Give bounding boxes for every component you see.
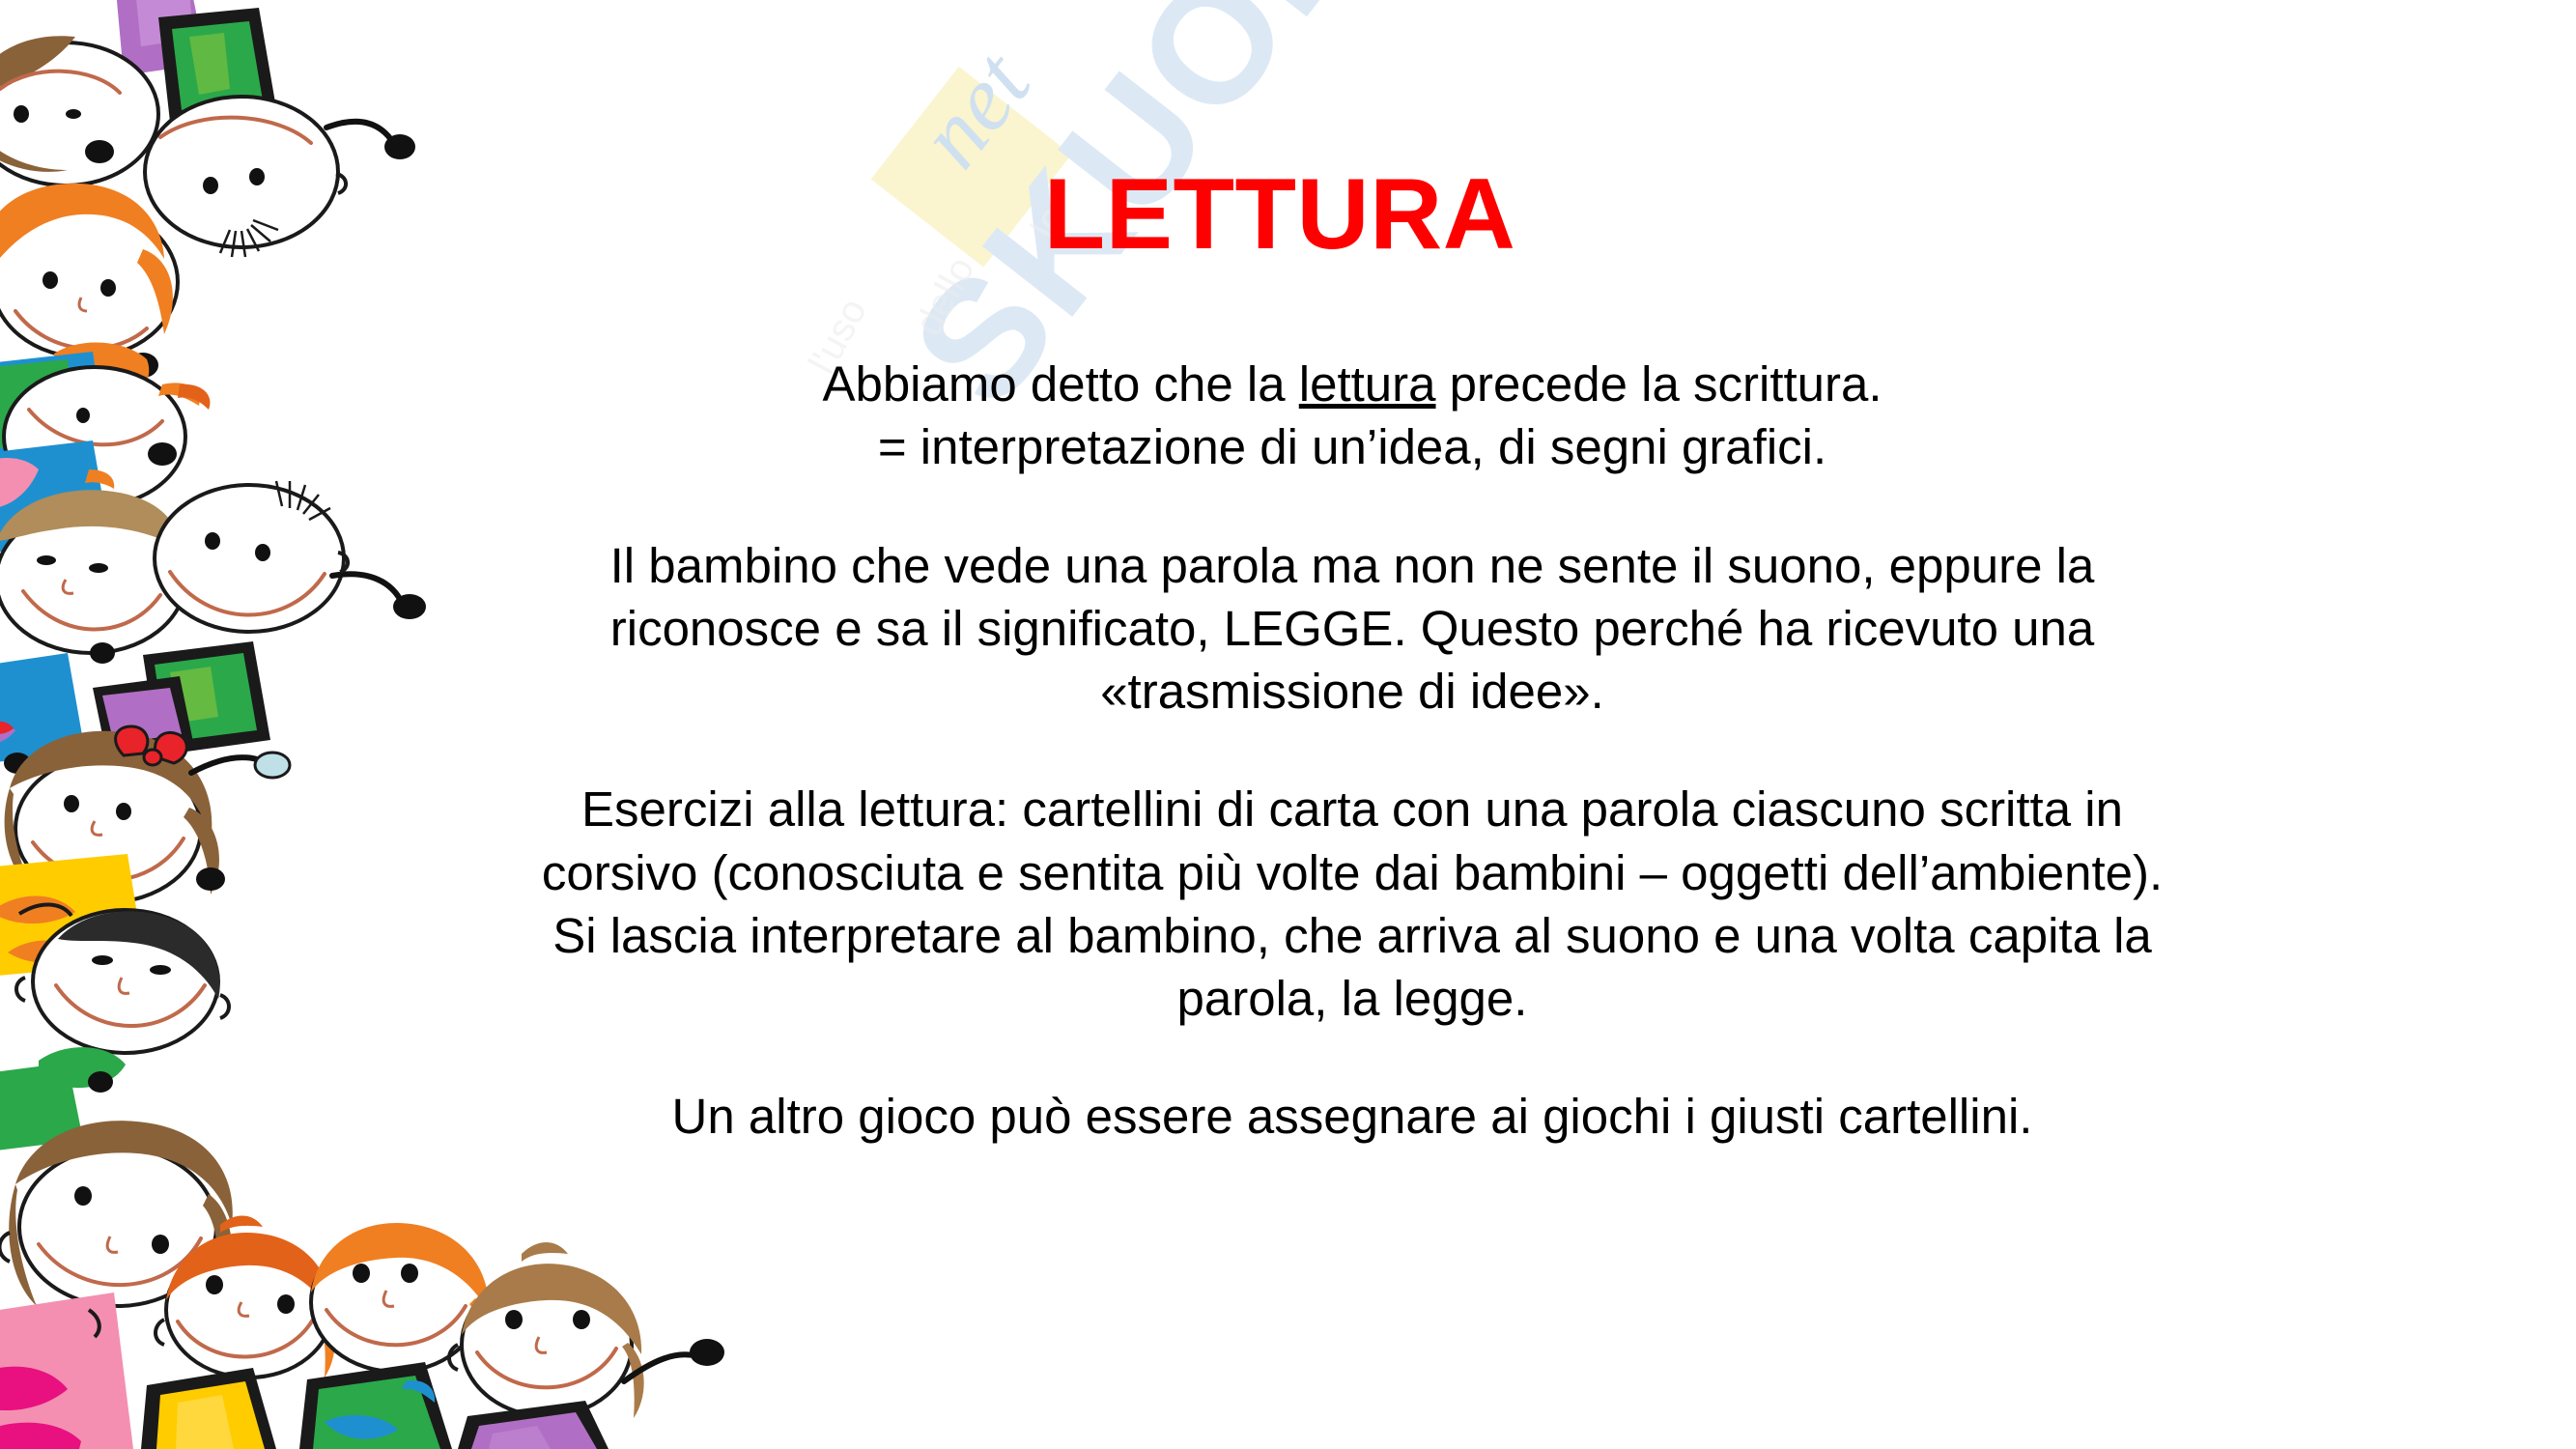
paragraph-1-line-2: = interpretazione di un’idea, di segni g… [435, 415, 2270, 478]
clipart-child-face-2 [145, 97, 415, 257]
presentation-slide: SKUOLA net l'uso dello le .ol { fill:non… [0, 0, 2576, 1449]
clipart-child-pink-shirt-bottom [0, 1293, 133, 1449]
clipart-hair-whiskers-2 [276, 481, 330, 520]
clipart-child-top-purple [116, 0, 207, 75]
clipart-child-blue-shirt-mid [0, 653, 85, 774]
slide-title: LETTURA [435, 162, 2125, 268]
paragraph-3-line-1: Esercizi alla lettura: cartellini di car… [435, 778, 2270, 840]
clipart-lollipop [255, 753, 290, 778]
paragraph-3-line-2: corsivo (conosciuta e sentita più volte … [435, 841, 2270, 904]
clipart-child-face-black-hair [16, 910, 229, 1053]
paragraph-gap-2 [435, 723, 2270, 778]
clipart-child-face-3 [0, 184, 178, 378]
paragraph-2-line-2: riconosce e sa il significato, LEGGE. Qu… [435, 597, 2270, 660]
clipart-child-face-6 [155, 481, 426, 632]
paragraph-gap-1 [435, 479, 2270, 534]
p1-underlined-word: lettura [1299, 356, 1436, 412]
clipart-child-blue-green-shirt [0, 352, 108, 472]
clipart-child-bottom-orange-yellow [141, 1215, 335, 1449]
paragraph-2-line-1: Il bambino che vede una parola ma non ne… [435, 534, 2270, 597]
clipart-child-face-4 [4, 367, 211, 506]
slide-body-text: Abbiamo detto che la lettura precede la … [435, 353, 2270, 1149]
p1-text-before: Abbiamo detto che la [822, 356, 1298, 412]
p1-text-after: precede la scrittura. [1436, 356, 1882, 412]
paragraph-3-line-3: Si lascia interpretare al bambino, che a… [435, 904, 2270, 967]
clipart-hair-whiskers-1 [220, 220, 278, 257]
clipart-child-green-shirt-top [158, 8, 276, 122]
paragraph-1-line-1: Abbiamo detto che la lettura precede la … [435, 353, 2270, 415]
paragraph-2-line-3: «trasmissione di idee». [435, 660, 2270, 723]
clipart-child-face-1 [0, 36, 158, 185]
clipart-purple-bag [93, 676, 193, 753]
slide-content: LETTURA Abbiamo detto che la lettura pre… [435, 0, 2576, 1449]
clipart-green-book [143, 641, 270, 755]
clipart-child-orange-sweater [0, 343, 155, 441]
clipart-red-bow [116, 726, 187, 765]
clipart-child-blue-jacket [0, 440, 127, 554]
paragraph-gap-3 [435, 1030, 2270, 1085]
clipart-child-girl-bow [5, 726, 290, 902]
clipart-child-face-5 [0, 490, 185, 664]
clipart-child-yellow-shirt [0, 854, 145, 978]
clipart-child-bottom-brown-hair [0, 1121, 233, 1306]
clipart-small-green-shirt [0, 1047, 126, 1153]
paragraph-3-line-4: parola, la legge. [435, 967, 2270, 1030]
paragraph-4-line-1: Un altro gioco può essere assegnare ai g… [435, 1085, 2270, 1148]
